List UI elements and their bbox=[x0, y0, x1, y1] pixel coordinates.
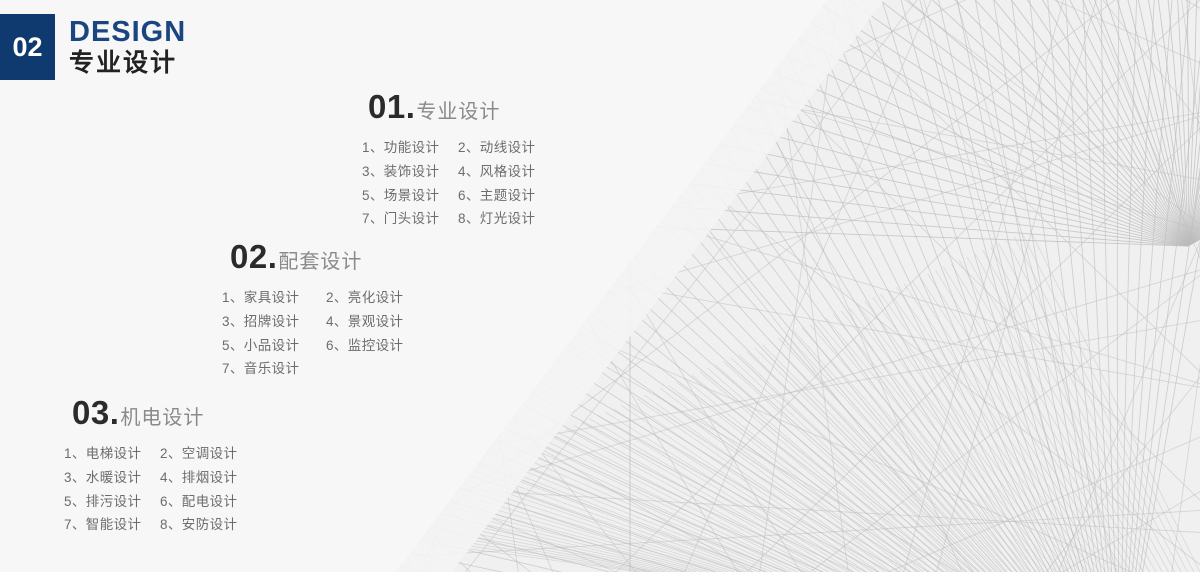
list-item: 3、水暖设计 bbox=[64, 466, 160, 490]
list-item: 7、门头设计 bbox=[362, 207, 458, 231]
slide-page: 02 DESIGN 专业设计 01. 专业设计 1、功能设计 2、动线设计 3、… bbox=[0, 0, 1200, 572]
section-name: 机电设计 bbox=[120, 408, 204, 428]
list-item: 6、主题设计 bbox=[458, 184, 554, 208]
page-title-cn: 专业设计 bbox=[69, 49, 186, 77]
list-item: 6、配电设计 bbox=[160, 490, 256, 514]
section-name: 配套设计 bbox=[278, 252, 362, 272]
list-row: 3、水暖设计 4、排烟设计 bbox=[64, 466, 256, 490]
list-row: 5、场景设计 6、主题设计 bbox=[362, 184, 554, 208]
section-name: 专业设计 bbox=[416, 102, 500, 122]
list-row: 3、装饰设计 4、风格设计 bbox=[362, 160, 554, 184]
list-item: 1、电梯设计 bbox=[64, 442, 160, 466]
list-row: 7、智能设计 8、安防设计 bbox=[64, 513, 256, 537]
section-number: 02. bbox=[230, 240, 277, 273]
list-item: 2、动线设计 bbox=[458, 136, 554, 160]
list-item: 3、装饰设计 bbox=[362, 160, 458, 184]
list-item: 4、景观设计 bbox=[326, 310, 430, 334]
list-item: 2、空调设计 bbox=[160, 442, 256, 466]
list-item: 5、排污设计 bbox=[64, 490, 160, 514]
list-item: 6、监控设计 bbox=[326, 334, 430, 358]
list-row: 5、小品设计 6、监控设计 bbox=[222, 334, 430, 358]
list-item: 2、亮化设计 bbox=[326, 286, 430, 310]
badge-number-label: 02 bbox=[12, 34, 42, 61]
list-row: 7、音乐设计 bbox=[222, 357, 430, 381]
slide-header: 02 DESIGN 专业设计 bbox=[0, 14, 186, 80]
section-heading: 03. 机电设计 bbox=[72, 396, 256, 429]
list-row: 3、招牌设计 4、景观设计 bbox=[222, 310, 430, 334]
list-row: 7、门头设计 8、灯光设计 bbox=[362, 207, 554, 231]
page-title-en: DESIGN bbox=[69, 17, 186, 48]
section-item-list: 1、功能设计 2、动线设计 3、装饰设计 4、风格设计 5、场景设计 6、主题设… bbox=[362, 136, 554, 231]
list-item: 5、场景设计 bbox=[362, 184, 458, 208]
list-item: 3、招牌设计 bbox=[222, 310, 326, 334]
list-item: 1、功能设计 bbox=[362, 136, 458, 160]
list-item: 8、安防设计 bbox=[160, 513, 256, 537]
header-title-block: DESIGN 专业设计 bbox=[69, 14, 186, 80]
section-heading: 02. 配套设计 bbox=[230, 240, 430, 273]
list-item bbox=[326, 357, 430, 381]
section-number: 03. bbox=[72, 396, 119, 429]
section-block-03: 03. 机电设计 1、电梯设计 2、空调设计 3、水暖设计 4、排烟设计 5、排… bbox=[72, 396, 256, 537]
list-item: 8、灯光设计 bbox=[458, 207, 554, 231]
section-block-01: 01. 专业设计 1、功能设计 2、动线设计 3、装饰设计 4、风格设计 5、场… bbox=[368, 90, 554, 231]
list-item: 4、排烟设计 bbox=[160, 466, 256, 490]
section-item-list: 1、家具设计 2、亮化设计 3、招牌设计 4、景观设计 5、小品设计 6、监控设… bbox=[222, 286, 430, 381]
list-row: 1、功能设计 2、动线设计 bbox=[362, 136, 554, 160]
section-number: 01. bbox=[368, 90, 415, 123]
list-item: 7、音乐设计 bbox=[222, 357, 326, 381]
section-block-02: 02. 配套设计 1、家具设计 2、亮化设计 3、招牌设计 4、景观设计 5、小… bbox=[230, 240, 430, 381]
section-heading: 01. 专业设计 bbox=[368, 90, 554, 123]
list-item: 7、智能设计 bbox=[64, 513, 160, 537]
list-row: 5、排污设计 6、配电设计 bbox=[64, 490, 256, 514]
list-row: 1、家具设计 2、亮化设计 bbox=[222, 286, 430, 310]
list-item: 4、风格设计 bbox=[458, 160, 554, 184]
list-item: 5、小品设计 bbox=[222, 334, 326, 358]
list-item: 1、家具设计 bbox=[222, 286, 326, 310]
list-row: 1、电梯设计 2、空调设计 bbox=[64, 442, 256, 466]
section-number-badge: 02 bbox=[0, 14, 55, 80]
section-item-list: 1、电梯设计 2、空调设计 3、水暖设计 4、排烟设计 5、排污设计 6、配电设… bbox=[64, 442, 256, 537]
